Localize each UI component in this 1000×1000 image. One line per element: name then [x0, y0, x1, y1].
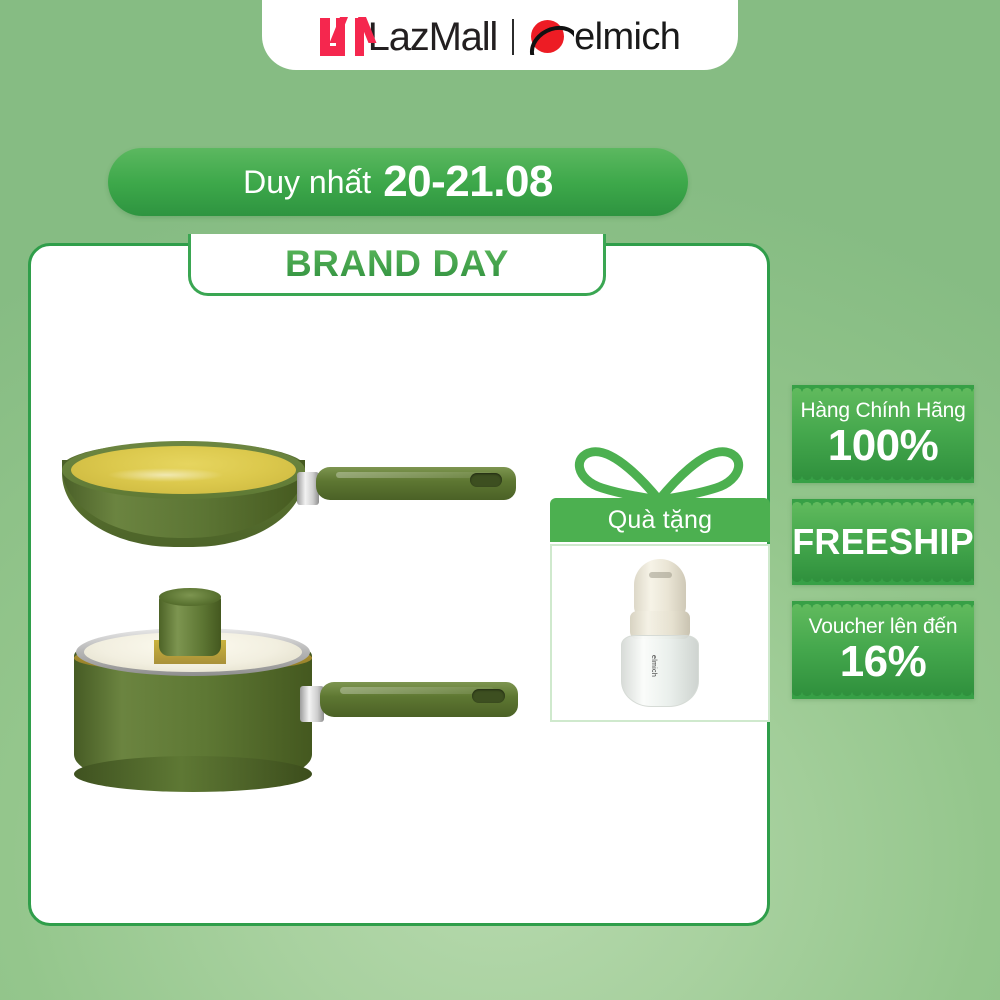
date-banner-dates: 20-21.08 [383, 157, 553, 207]
authentic-badge[interactable]: Hàng Chính Hãng 100% [792, 386, 974, 482]
authentic-badge-title: Hàng Chính Hãng [800, 399, 965, 423]
saucepan-image: elmich [62, 588, 532, 803]
logo-header-tab: LazMall elmich [262, 0, 738, 70]
lazmall-wordmark: LazMall [368, 17, 497, 57]
voucher-badge-value: 16% [840, 639, 927, 685]
date-banner: Duy nhất 20-21.08 [108, 148, 688, 216]
voucher-badge[interactable]: Voucher lên đến 16% [792, 602, 974, 698]
promo-banner: LazMall elmich Duy nhất 20-21.08 BRAND D… [0, 0, 1000, 1000]
freeship-badge[interactable]: FREESHIP [792, 500, 974, 584]
authentic-badge-value: 100% [828, 423, 939, 469]
gift-item-frame: elmich [550, 544, 770, 722]
lazmall-lm-monogram-icon [320, 18, 365, 56]
date-banner-prefix: Duy nhất [243, 164, 371, 201]
frying-pan-image [62, 432, 532, 567]
glass-shaker-bottle-icon: elmich [621, 559, 699, 707]
logo-divider [512, 19, 514, 55]
gift-item-brand-text: elmich [650, 655, 657, 677]
brand-day-tag: BRAND DAY [188, 234, 606, 296]
freeship-badge-label: FREESHIP [792, 513, 974, 571]
elmich-logo[interactable]: elmich [529, 17, 680, 57]
gift-ribbon-bow-icon [562, 440, 756, 502]
gift-label: Quà tặng [608, 506, 712, 535]
voucher-badge-title: Voucher lên đến [809, 615, 958, 639]
badge-list: Hàng Chính Hãng 100% FREESHIP Voucher lê… [792, 386, 974, 698]
lazmall-logo[interactable]: LazMall [320, 17, 497, 57]
elmich-circle-swoosh-icon [529, 17, 573, 57]
brand-day-label: BRAND DAY [285, 243, 509, 285]
elmich-wordmark: elmich [574, 18, 680, 56]
gift-label-band: Quà tặng [550, 498, 770, 542]
gift-section: Quà tặng elmich [548, 440, 770, 722]
